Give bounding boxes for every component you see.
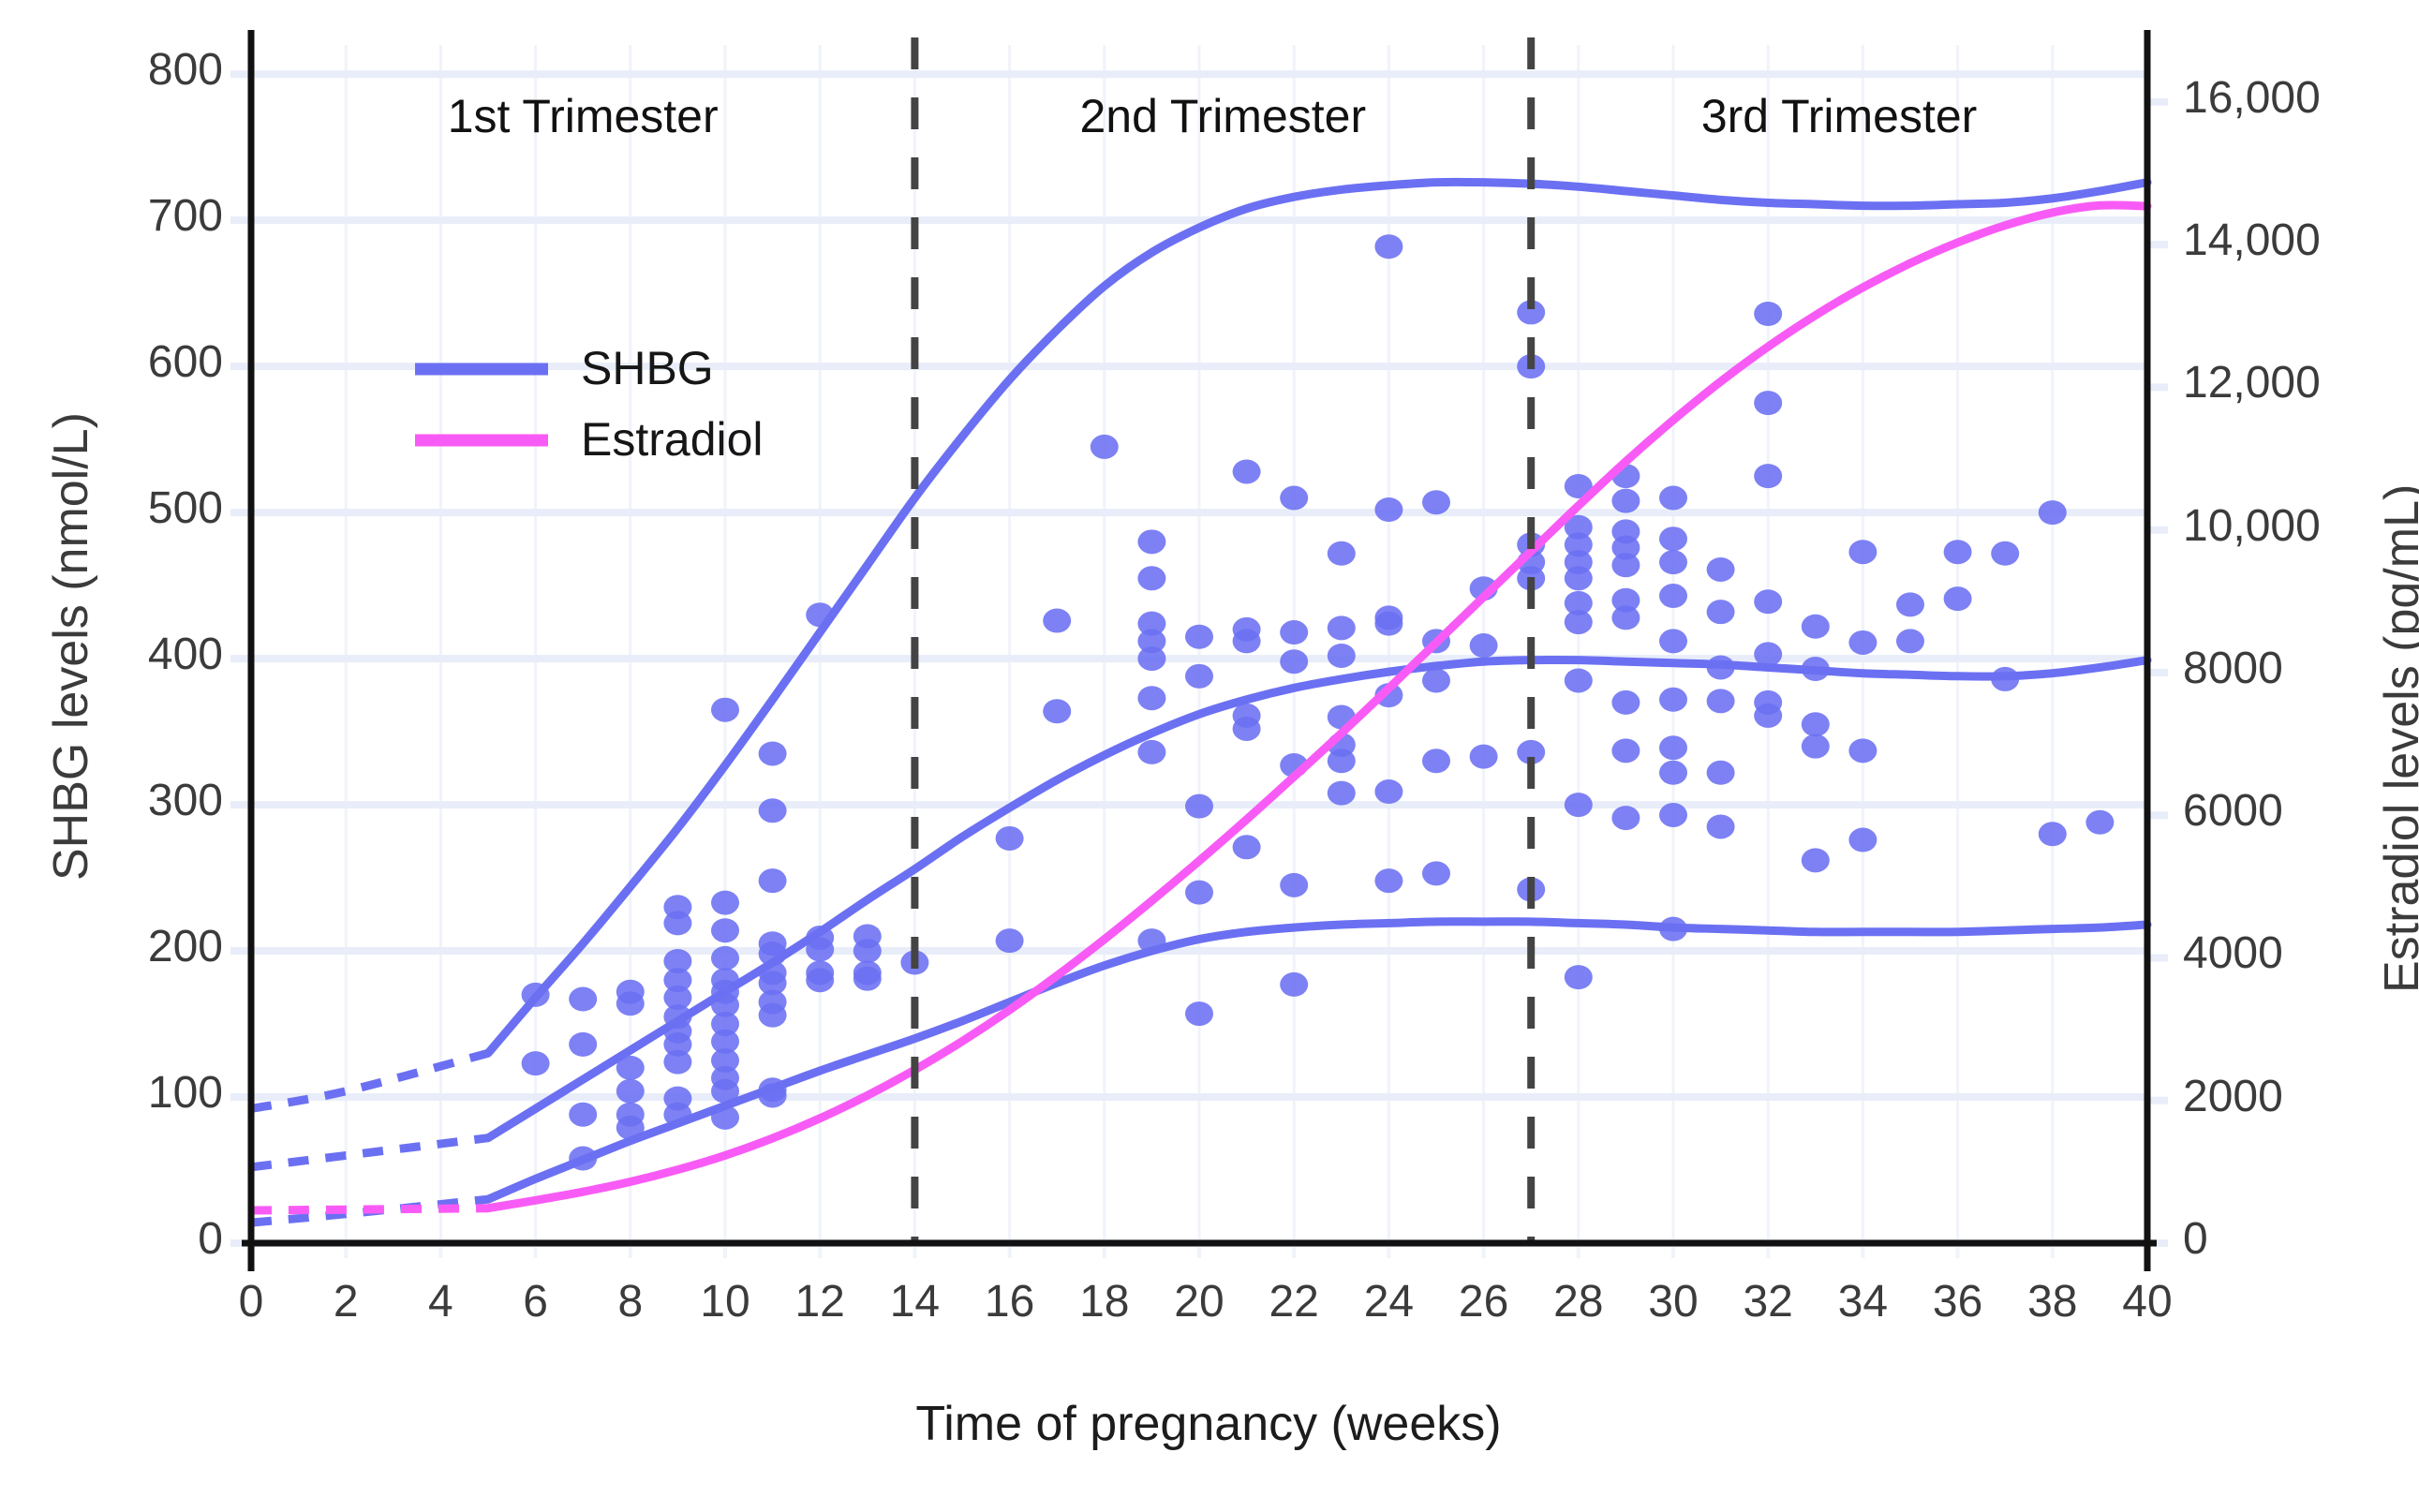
y-tick-label-right: 12,000 xyxy=(2183,357,2417,408)
scatter-point xyxy=(1422,490,1450,514)
scatter-point xyxy=(1233,629,1261,653)
scatter-point xyxy=(1185,881,1213,905)
scatter-point xyxy=(2085,810,2114,835)
scatter-point xyxy=(1328,749,1356,773)
scatter-point xyxy=(1848,630,1877,655)
scatter-point xyxy=(1754,704,1782,728)
trimester-label-1: 1st Trimester xyxy=(339,89,826,143)
trend-line-dashed-extrapolation xyxy=(251,1208,488,1210)
trimester-label-3: 3rd Trimester xyxy=(1595,89,2083,143)
scatter-point xyxy=(1565,668,1593,692)
scatter-point xyxy=(1991,541,2019,566)
scatter-point xyxy=(711,946,739,971)
legend-label-shbg: SHBG xyxy=(581,341,714,395)
scatter-point xyxy=(711,698,739,722)
scatter-point xyxy=(1707,600,1735,624)
scatter-point xyxy=(1185,664,1213,689)
scatter-point xyxy=(1328,781,1356,806)
scatter-point xyxy=(806,968,834,992)
scatter-point xyxy=(853,939,882,963)
scatter-point xyxy=(1659,526,1687,551)
scatter-point xyxy=(1896,629,1924,653)
scatter-point xyxy=(569,987,597,1012)
scatter-point xyxy=(1137,740,1165,764)
scatter-point xyxy=(569,1032,597,1057)
scatter-point xyxy=(1565,610,1593,634)
scatter-point xyxy=(1802,734,1830,759)
y-tick-label-right: 2000 xyxy=(2183,1071,2417,1122)
y-tick-label-right: 6000 xyxy=(2183,785,2417,837)
scatter-point xyxy=(1422,749,1450,773)
scatter-point xyxy=(1374,234,1402,259)
scatter-point xyxy=(1233,717,1261,741)
scatter-point xyxy=(1659,688,1687,712)
scatter-point xyxy=(1137,529,1165,554)
y-axis-right-title: Estradiol levels (pg/mL) xyxy=(2374,484,2419,993)
scatter-point xyxy=(711,918,739,942)
scatter-point xyxy=(759,868,787,893)
y-tick-label-left: 200 xyxy=(56,921,223,972)
trimester-label-2: 2nd Trimester xyxy=(979,89,1466,143)
scatter-point xyxy=(1280,649,1308,674)
scatter-point xyxy=(1185,1001,1213,1026)
scatter-point xyxy=(853,967,882,991)
scatter-point xyxy=(522,1051,550,1075)
scatter-point xyxy=(1707,689,1735,713)
chart-figure: SHBG levels (nmol/L) Estradiol levels (p… xyxy=(0,0,2419,1512)
y-tick-label-right: 4000 xyxy=(2183,927,2417,979)
scatter-point xyxy=(1848,540,1877,564)
scatter-point xyxy=(1611,738,1640,763)
scatter-point xyxy=(711,891,739,915)
scatter-point xyxy=(1802,615,1830,639)
scatter-point xyxy=(616,991,645,1015)
scatter-point xyxy=(1659,550,1687,574)
scatter-point xyxy=(1280,486,1308,511)
y-tick-label-left: 100 xyxy=(56,1067,223,1119)
scatter-point xyxy=(759,741,787,765)
scatter-point xyxy=(1659,629,1687,653)
y-tick-label-left: 600 xyxy=(56,336,223,388)
scatter-point xyxy=(1565,965,1593,989)
scatter-point xyxy=(1944,586,1972,611)
scatter-point xyxy=(1659,761,1687,785)
scatter-point xyxy=(1137,646,1165,671)
legend-swatches xyxy=(415,369,548,440)
scatter-point xyxy=(1280,972,1308,997)
scatter-point xyxy=(1374,868,1402,893)
scatter-point xyxy=(663,911,691,935)
scatter-point xyxy=(1328,615,1356,640)
scatter-point xyxy=(759,1003,787,1028)
scatter-point xyxy=(1611,605,1640,630)
scatter-point xyxy=(663,1050,691,1075)
scatter-point xyxy=(1707,557,1735,582)
scatter-point xyxy=(1043,609,1071,633)
scatter-point xyxy=(1896,592,1924,616)
scatter-point xyxy=(1659,486,1687,511)
scatter-point xyxy=(1848,738,1877,763)
y-tick-label-left: 0 xyxy=(56,1213,223,1265)
x-tick-label: 40 xyxy=(2091,1276,2204,1327)
scatter-point xyxy=(1280,873,1308,897)
scatter-point xyxy=(1659,584,1687,608)
scatter-point xyxy=(2039,500,2067,525)
scatter-point xyxy=(1137,566,1165,590)
scatter-point xyxy=(1565,793,1593,817)
scatter-point xyxy=(996,826,1024,851)
scatter-point xyxy=(1754,302,1782,326)
scatter-point xyxy=(1137,686,1165,710)
scatter-point xyxy=(1374,497,1402,522)
scatter-point xyxy=(1422,668,1450,692)
scatter-point xyxy=(759,798,787,823)
y-tick-label-right: 16,000 xyxy=(2183,72,2417,124)
scatter-point xyxy=(1611,489,1640,513)
y-tick-label-right: 14,000 xyxy=(2183,215,2417,266)
scatter-point xyxy=(996,928,1024,953)
y-tick-label-right: 10,000 xyxy=(2183,500,2417,552)
scatter-point xyxy=(1848,828,1877,852)
y-tick-label-left: 700 xyxy=(56,190,223,242)
scatter-point xyxy=(1802,712,1830,736)
scatter-point xyxy=(1611,806,1640,830)
scatter-point xyxy=(1611,553,1640,577)
scatter-point xyxy=(1754,391,1782,415)
y-tick-label-right: 8000 xyxy=(2183,643,2417,694)
y-tick-label-right: 0 xyxy=(2183,1213,2417,1265)
scatter-point xyxy=(1611,690,1640,715)
scatter-point xyxy=(569,1103,597,1127)
scatter-point xyxy=(1802,848,1830,872)
scatter-point xyxy=(1754,589,1782,614)
scatter-point xyxy=(1233,835,1261,859)
scatter-point xyxy=(2039,822,2067,846)
legend-label-estradiol: Estradiol xyxy=(581,412,764,467)
scatter-points xyxy=(522,234,2115,1170)
y-tick-label-left: 800 xyxy=(56,44,223,96)
scatter-point xyxy=(616,1079,645,1104)
scatter-point xyxy=(1754,464,1782,488)
scatter-point xyxy=(1091,435,1119,459)
trend-line-dashed-extrapolation xyxy=(251,1138,488,1167)
scatter-point xyxy=(1185,794,1213,819)
scatter-point xyxy=(1233,459,1261,483)
scatter-point xyxy=(1659,803,1687,827)
scatter-point xyxy=(1185,625,1213,649)
scatter-point xyxy=(1470,633,1498,658)
scatter-point xyxy=(1374,612,1402,636)
scatter-point xyxy=(1374,779,1402,804)
y-tick-label-left: 400 xyxy=(56,629,223,680)
scatter-point xyxy=(1707,814,1735,838)
scatter-point xyxy=(1470,745,1498,769)
y-tick-label-left: 300 xyxy=(56,775,223,826)
scatter-point xyxy=(1659,735,1687,760)
y-tick-label-left: 500 xyxy=(56,482,223,534)
scatter-point xyxy=(1707,761,1735,785)
scatter-point xyxy=(1328,644,1356,668)
scatter-point xyxy=(1328,541,1356,566)
scatter-point xyxy=(1422,861,1450,885)
scatter-point xyxy=(1280,620,1308,645)
scatter-point xyxy=(1565,566,1593,590)
scatter-point xyxy=(1043,699,1071,723)
scatter-point xyxy=(1944,540,1972,564)
x-axis-title: Time of pregnancy (weeks) xyxy=(871,1396,1546,1452)
